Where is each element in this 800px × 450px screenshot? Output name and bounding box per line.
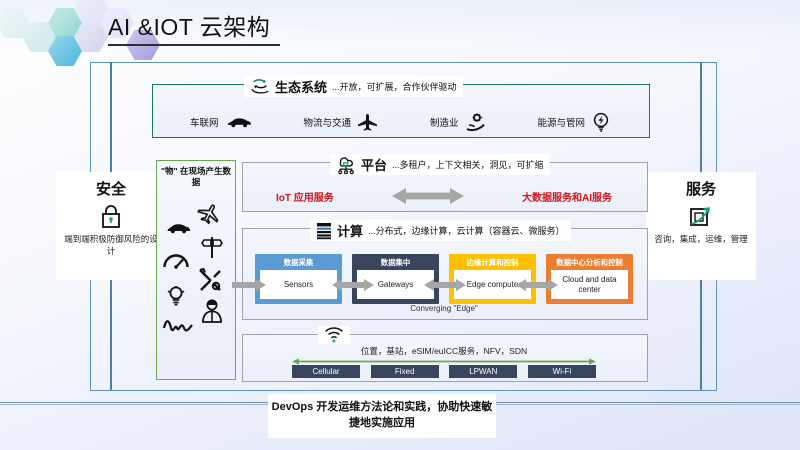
page-title: AI &IOT 云架构: [108, 8, 270, 42]
compute-flow-arrow-2: [424, 279, 466, 291]
signpost-icon: [201, 235, 223, 259]
things-title: "物" 在现场产生数据: [157, 161, 235, 189]
ecosystem-tagline: ...开放，可扩展，合作伙伴驱动: [332, 80, 457, 93]
compute-flow-arrow-1: [332, 279, 374, 291]
frame-connector-right-bottom: [700, 280, 702, 390]
ecosystem-item-label: 能源与管网: [537, 115, 585, 129]
services-title: 服务: [646, 178, 756, 199]
ecosystem-item-energy[interactable]: 能源与管网: [537, 112, 610, 132]
airplane-icon: [197, 203, 221, 227]
compute-box-header: 数据中心分析和控制: [546, 254, 633, 270]
double-arrow-icon: [392, 187, 464, 205]
ecosystem-item-label: 车联网: [190, 115, 219, 129]
devops-callout: DevOps 开发运维方法论和实践，协助快速敏捷地实施应用: [268, 394, 496, 438]
platform-services: IoT 应用服务 大数据服务和AI服务: [242, 184, 646, 208]
pulse-icon: [163, 317, 193, 335]
car-icon: [165, 221, 191, 234]
hand-gear-icon: [466, 113, 486, 131]
services-subtitle: 咨询，集成，运维，管理: [646, 233, 756, 251]
connectivity-label: [318, 326, 350, 344]
lightbulb-bolt-icon: [592, 112, 610, 132]
things-column: "物" 在现场产生数据: [156, 160, 236, 380]
car-icon: [226, 116, 252, 128]
ecosystem-item-connected-vehicles[interactable]: 车联网: [190, 115, 252, 129]
compute-flow-arrow-3: [516, 279, 558, 291]
hexagon-cluster-icon: [0, 0, 110, 56]
connectivity-boxes: Cellular Fixed LPWAN Wi-Fi: [292, 365, 596, 378]
compute-box-header: 数据采集: [255, 254, 342, 270]
compute-footnote: Converging "Edge": [242, 304, 646, 313]
compute-label: 计算 ...分布式，边缘计算，云计算（容器云、微服务）: [310, 220, 571, 241]
cloud-network-icon: [336, 156, 356, 174]
security-subtitle: 端到端积极防御风险的设计: [56, 233, 166, 264]
compute-tagline: ...分布式，边缘计算，云计算（容器云、微服务）: [368, 224, 565, 237]
compute-box-body: Sensors: [260, 270, 337, 299]
platform-left-service: IoT 应用服务: [276, 189, 334, 204]
growth-chart-icon: [646, 199, 756, 233]
platform-label: 平台 ...多租户，上下文相关，洞见，可扩缩: [330, 154, 550, 175]
frame-connector-right-top: [700, 62, 702, 172]
lock-icon: [56, 199, 166, 233]
connectivity-box-lpwan[interactable]: LPWAN: [449, 365, 517, 378]
header: AI &IOT 云架构: [0, 0, 800, 56]
security-panel: 安全 端到端积极防御风险的设计: [56, 172, 166, 280]
compute-box-body: Cloud and data center: [551, 270, 628, 299]
ecosystem-label: 生态系统 ...开放，可扩展，合作伙伴驱动: [244, 76, 463, 97]
compute-title: 计算: [337, 221, 363, 240]
connectivity-double-arrow-icon: [292, 358, 596, 365]
compute-box-cloud-data-center[interactable]: 数据中心分析和控制 Cloud and data center: [546, 254, 633, 304]
connectivity-box-wifi[interactable]: Wi-Fi: [528, 365, 596, 378]
compute-box-sensors[interactable]: 数据采集 Sensors: [255, 254, 342, 304]
ecosystem-items: 车联网 物流与交通 制造业 能源与管网: [152, 108, 648, 136]
platform-title: 平台: [361, 155, 387, 174]
things-icon-grid: [157, 189, 235, 357]
person-icon: [201, 299, 223, 323]
services-panel: 服务 咨询，集成，运维，管理: [646, 172, 756, 280]
ecosystem-item-label: 物流与交通: [303, 115, 351, 129]
compute-box-header: 边缘计算和控制: [449, 254, 536, 270]
gauge-icon: [163, 251, 189, 269]
security-title: 安全: [56, 178, 166, 199]
lightbulb-icon: [165, 285, 187, 307]
ecosystem-title: 生态系统: [275, 77, 327, 96]
ecosystem-item-logistics[interactable]: 物流与交通: [303, 113, 378, 131]
platform-tagline: ...多租户，上下文相关，洞见，可扩缩: [392, 158, 544, 171]
compute-box-header: 数据集中: [352, 254, 439, 270]
hand-cycle-icon: [250, 78, 270, 95]
wifi-icon: [324, 327, 344, 343]
frame-connector-left-top: [110, 62, 112, 172]
connectivity-box-fixed[interactable]: Fixed: [371, 365, 439, 378]
platform-right-service: 大数据服务和AI服务: [522, 189, 612, 204]
connectivity-box-cellular[interactable]: Cellular: [292, 365, 360, 378]
title-underline: [108, 44, 280, 46]
ecosystem-item-manufacturing[interactable]: 制造业: [430, 113, 486, 131]
frame-connector-left-bottom: [110, 280, 112, 390]
airplane-icon: [358, 113, 378, 131]
ecosystem-item-label: 制造业: [430, 115, 459, 129]
server-stack-icon: [316, 222, 332, 240]
compute-flow-arrow-in: [232, 279, 266, 291]
tools-icon: [197, 267, 223, 293]
connectivity-caption: 位置，基站，eSIM/euICC服务，NFV，SDN: [242, 345, 646, 357]
